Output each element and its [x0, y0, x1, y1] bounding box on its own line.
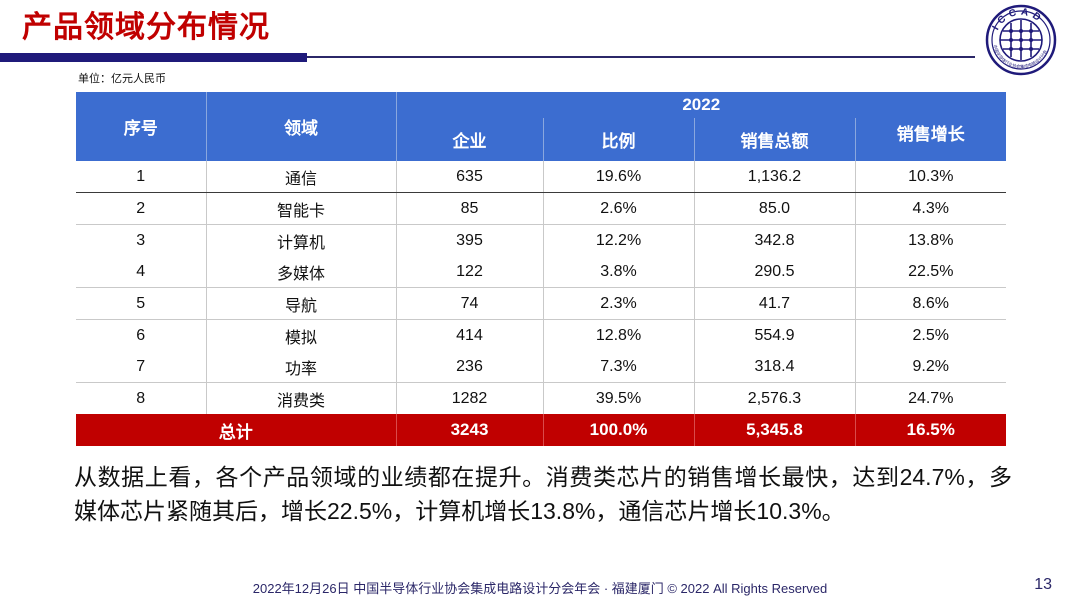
cell-index: 4	[76, 256, 206, 288]
cell-sales-growth: 8.6%	[855, 288, 1006, 320]
cell-companies: 1282	[396, 383, 543, 415]
table-body: 1 通信 635 19.6% 1,136.2 10.3% 2 智能卡 85 2.…	[76, 161, 1006, 446]
cell-companies: 236	[396, 351, 543, 383]
table-row: 1 通信 635 19.6% 1,136.2 10.3%	[76, 161, 1006, 193]
page-number: 13	[1034, 576, 1052, 594]
body-paragraph: 从数据上看，各个产品领域的业绩都在提升。消费类芯片的销售增长最快，达到24.7%…	[74, 460, 1012, 528]
cell-field: 模拟	[206, 320, 396, 352]
cell-sales-growth: 10.3%	[855, 161, 1006, 193]
cell-ratio: 12.8%	[543, 320, 694, 352]
cell-sales-total: 318.4	[694, 351, 855, 383]
cell-sales-total: 2,576.3	[694, 383, 855, 415]
cell-ratio: 3.8%	[543, 256, 694, 288]
cell-companies: 635	[396, 161, 543, 193]
cell-field: 功率	[206, 351, 396, 383]
cell-total-companies: 3243	[396, 414, 543, 446]
table-row: 3 计算机 395 12.2% 342.8 13.8%	[76, 225, 1006, 257]
cell-sales-growth: 22.5%	[855, 256, 1006, 288]
table-row: 5 导航 74 2.3% 41.7 8.6%	[76, 288, 1006, 320]
cell-companies: 122	[396, 256, 543, 288]
cell-sales-total: 1,136.2	[694, 161, 855, 193]
cell-index: 1	[76, 161, 206, 193]
cell-sales-growth: 2.5%	[855, 320, 1006, 352]
cell-field: 通信	[206, 161, 396, 193]
col-header-sales-growth-label: 销售增长	[897, 125, 965, 144]
cell-ratio: 7.3%	[543, 351, 694, 383]
cell-field: 计算机	[206, 225, 396, 257]
iccad-logo-icon: ICCAD 中国半导体行业协会集成电路设计分会	[985, 4, 1057, 76]
cell-index: 7	[76, 351, 206, 383]
cell-sales-growth: 4.3%	[855, 193, 1006, 225]
cell-sales-growth: 13.8%	[855, 225, 1006, 257]
title-rule-thick	[0, 53, 307, 62]
col-header-field: 领域	[206, 92, 396, 161]
cell-total-sales-growth: 16.5%	[855, 414, 1006, 446]
col-header-index: 序号	[76, 92, 206, 161]
table-row: 7 功率 236 7.3% 318.4 9.2%	[76, 351, 1006, 383]
unit-note: 单位：亿元人民币	[78, 70, 166, 86]
cell-field: 多媒体	[206, 256, 396, 288]
cell-ratio: 12.2%	[543, 225, 694, 257]
footer-text: 2022年12月26日 中国半导体行业协会集成电路设计分会年会 · 福建厦门 ©…	[0, 578, 1080, 597]
table-header-row-group: 序号 领域 2022	[76, 92, 1006, 118]
cell-sales-total: 342.8	[694, 225, 855, 257]
table-total-row: 总计 3243 100.0% 5,345.8 16.5%	[76, 414, 1006, 446]
table-row: 6 模拟 414 12.8% 554.9 2.5%	[76, 320, 1006, 352]
cell-companies: 74	[396, 288, 543, 320]
cell-sales-growth: 24.7%	[855, 383, 1006, 415]
page-title: 产品领域分布情况	[22, 10, 270, 46]
cell-sales-total: 41.7	[694, 288, 855, 320]
cell-total-ratio: 100.0%	[543, 414, 694, 446]
cell-index: 2	[76, 193, 206, 225]
cell-index: 6	[76, 320, 206, 352]
cell-ratio: 39.5%	[543, 383, 694, 415]
col-header-sales-growth: 销售增长	[855, 118, 1006, 161]
cell-field: 智能卡	[206, 193, 396, 225]
cell-ratio: 19.6%	[543, 161, 694, 193]
cell-companies: 414	[396, 320, 543, 352]
cell-field: 导航	[206, 288, 396, 320]
cell-ratio: 2.3%	[543, 288, 694, 320]
cell-sales-total: 554.9	[694, 320, 855, 352]
cell-index: 3	[76, 225, 206, 257]
cell-companies: 85	[396, 193, 543, 225]
cell-total-label: 总计	[76, 414, 396, 446]
title-rule-thin	[307, 56, 975, 58]
cell-sales-total: 290.5	[694, 256, 855, 288]
cell-companies: 395	[396, 225, 543, 257]
cell-field: 消费类	[206, 383, 396, 415]
cell-index: 8	[76, 383, 206, 415]
cell-sales-growth: 9.2%	[855, 351, 1006, 383]
cell-index: 5	[76, 288, 206, 320]
cell-ratio: 2.6%	[543, 193, 694, 225]
table-row: 2 智能卡 85 2.6% 85.0 4.3%	[76, 193, 1006, 225]
col-header-year-group: 2022	[396, 92, 1006, 118]
col-header-sales-total: 销售总额	[694, 118, 855, 161]
cell-sales-total: 85.0	[694, 193, 855, 225]
cell-total-sales-total: 5,345.8	[694, 414, 855, 446]
table-row: 4 多媒体 122 3.8% 290.5 22.5%	[76, 256, 1006, 288]
product-field-table: 序号 领域 2022 企业 比例 销售总额 销售增长 1 通信 635 19.6…	[76, 92, 1006, 446]
col-header-ratio: 比例	[543, 118, 694, 161]
table-row: 8 消费类 1282 39.5% 2,576.3 24.7%	[76, 383, 1006, 415]
col-header-companies: 企业	[396, 118, 543, 161]
